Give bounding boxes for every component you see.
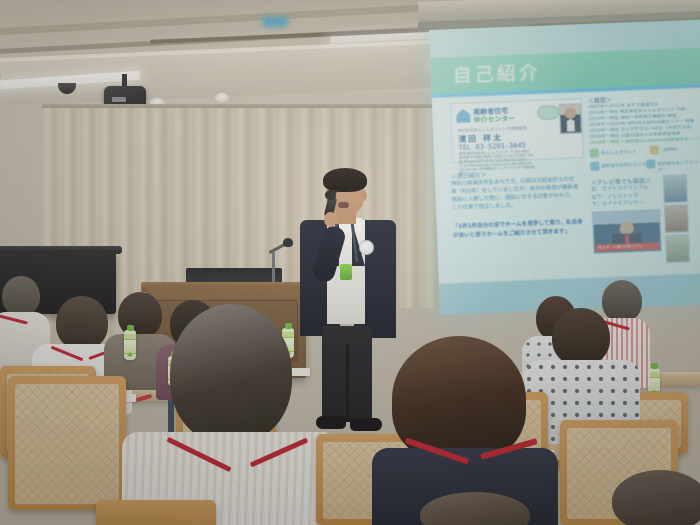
attendee-head: [420, 492, 530, 525]
chair-cushion: [15, 384, 119, 504]
presenter-ear: [360, 190, 367, 201]
microphone-head: [325, 190, 336, 200]
list-item: [128, 304, 334, 525]
list-item: [420, 492, 530, 525]
downlight-icon: [215, 93, 229, 102]
attendee-head: [56, 296, 108, 350]
lanyard-badge: [340, 264, 352, 280]
list-item: [612, 470, 700, 525]
projector-badge: [112, 97, 126, 102]
screen-sheen: [429, 20, 700, 315]
microphone-icon: [283, 238, 293, 247]
conference-chair: [8, 376, 126, 510]
attendee-head: [612, 470, 700, 525]
chair-frame: [96, 500, 216, 525]
presenter-hair: [323, 168, 367, 192]
seminar-photo: 自己紹介 高齢者住宅 仲介センター 株式会社あんしんカウント 代表取締役 濱田 …: [0, 0, 700, 525]
conference-chair: [96, 500, 216, 525]
lapel-badge: [359, 240, 374, 255]
presenter-hand: [324, 212, 337, 227]
ceiling-blue-light: [262, 17, 288, 27]
bottle-cap: [651, 363, 658, 369]
presenter-mouth: [338, 202, 349, 208]
trouser-seam: [346, 344, 349, 422]
attendee-head: [170, 304, 292, 444]
projection-screen: 自己紹介 高齢者住宅 仲介センター 株式会社あんしんカウント 代表取締役 濱田 …: [429, 20, 700, 315]
presenter-eye: [348, 189, 353, 192]
